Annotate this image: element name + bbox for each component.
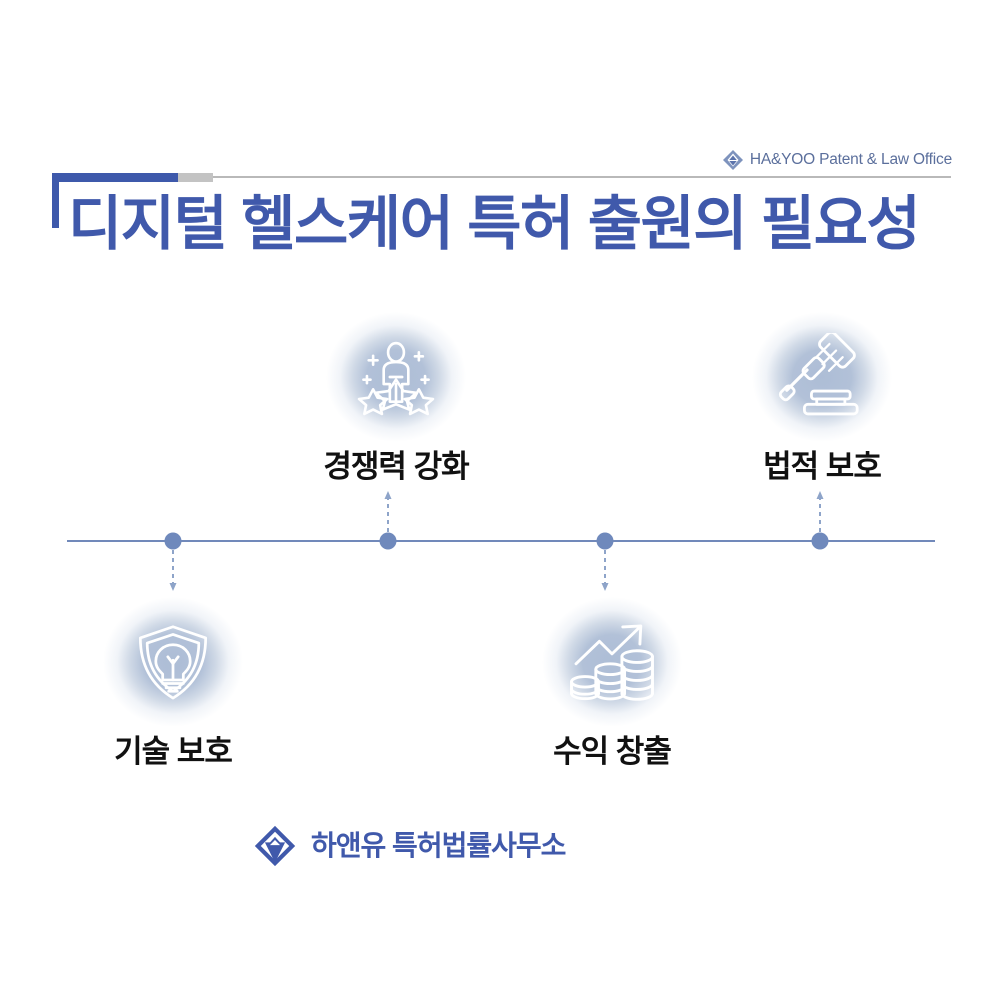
- timeline-node-dot-2[interactable]: [380, 533, 397, 550]
- icon-blob-2: [326, 312, 466, 442]
- hayoo-diamond-logo-icon: [253, 824, 297, 868]
- timeline-item-label-1: 기술 보호: [114, 736, 232, 767]
- timeline-connector-up-2: [382, 490, 394, 532]
- timeline-node-dot-4[interactable]: [812, 533, 829, 550]
- title-accent-bar-vertical: [52, 182, 59, 228]
- footer-logo: 하앤유 특허법률사무소: [253, 824, 565, 868]
- brand-name-text: HA&YOO Patent & Law Office: [750, 152, 952, 168]
- title-accent-bar-grey: [178, 173, 213, 182]
- icon-blob-4: [752, 312, 892, 442]
- shield-lightbulb-icon: [130, 619, 216, 705]
- page-title: 디지털 헬스케어 특허 출원의 필요성: [68, 191, 919, 257]
- diamond-emblem-icon: [722, 149, 744, 171]
- icon-blob-3: [542, 597, 682, 727]
- timeline-item-label-2: 경쟁력 강화: [323, 451, 468, 482]
- gavel-icon: [778, 333, 866, 421]
- slide-canvas: HA&YOO Patent & Law Office 디지털 헬스케어 특허 출…: [0, 0, 1000, 1000]
- timeline-item-label-3: 수익 창출: [553, 736, 671, 767]
- person-stars-icon: [352, 333, 440, 421]
- title-horizontal-rule: [213, 176, 951, 178]
- icon-blob-1: [103, 597, 243, 727]
- timeline-node-dot-1[interactable]: [165, 533, 182, 550]
- coins-growth-arrow-icon: [567, 617, 657, 707]
- title-accent-bar-blue: [52, 173, 178, 182]
- timeline-connector-down-3: [599, 550, 611, 592]
- header-brand: HA&YOO Patent & Law Office: [722, 148, 952, 172]
- footer-company-name: 하앤유 특허법률사무소: [311, 832, 565, 860]
- timeline-connector-up-4: [814, 490, 826, 532]
- timeline-connector-down-1: [167, 550, 179, 592]
- timeline-axis: [67, 540, 935, 542]
- timeline-node-dot-3[interactable]: [597, 533, 614, 550]
- timeline-item-label-4: 법적 보호: [763, 451, 881, 482]
